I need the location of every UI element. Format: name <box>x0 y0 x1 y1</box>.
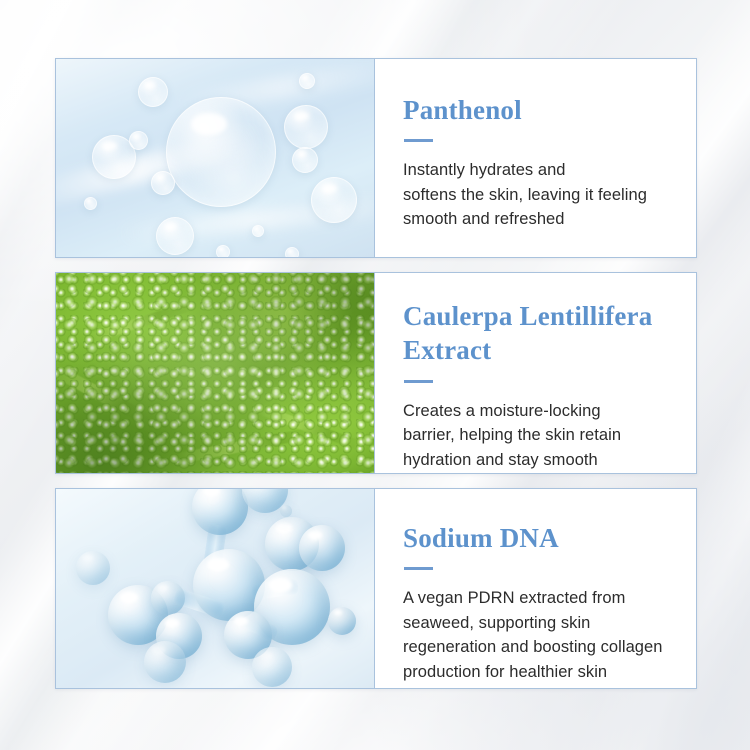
card-description: Instantly hydrates and softens the skin,… <box>403 158 674 232</box>
ingredient-card-list: Panthenol Instantly hydrates and softens… <box>55 58 697 689</box>
card-title: Panthenol <box>403 93 674 127</box>
card-text-caulerpa-lentillifera-extract: Caulerpa Lentillifera Extract Creates a … <box>375 273 696 473</box>
ingredient-card-caulerpa-lentillifera-extract[interactable]: Caulerpa Lentillifera Extract Creates a … <box>55 272 697 474</box>
ingredient-card-sodium-dna[interactable]: Sodium DNA A vegan PDRN extracted from s… <box>55 488 697 689</box>
card-description: A vegan PDRN extracted from seaweed, sup… <box>403 586 674 684</box>
title-divider <box>404 567 433 570</box>
card-title: Sodium DNA <box>403 521 674 555</box>
ingredient-card-panthenol[interactable]: Panthenol Instantly hydrates and softens… <box>55 58 697 258</box>
molecule-spheres-photo <box>56 489 375 688</box>
card-title: Caulerpa Lentillifera Extract <box>403 299 674 368</box>
card-description: Creates a moisture-locking barrier, help… <box>403 399 674 473</box>
title-divider <box>404 139 433 142</box>
water-bubbles-photo <box>56 59 375 257</box>
title-divider <box>404 380 433 383</box>
card-text-panthenol: Panthenol Instantly hydrates and softens… <box>375 59 696 257</box>
card-text-sodium-dna: Sodium DNA A vegan PDRN extracted from s… <box>375 489 696 688</box>
sea-grapes-photo <box>56 273 375 473</box>
